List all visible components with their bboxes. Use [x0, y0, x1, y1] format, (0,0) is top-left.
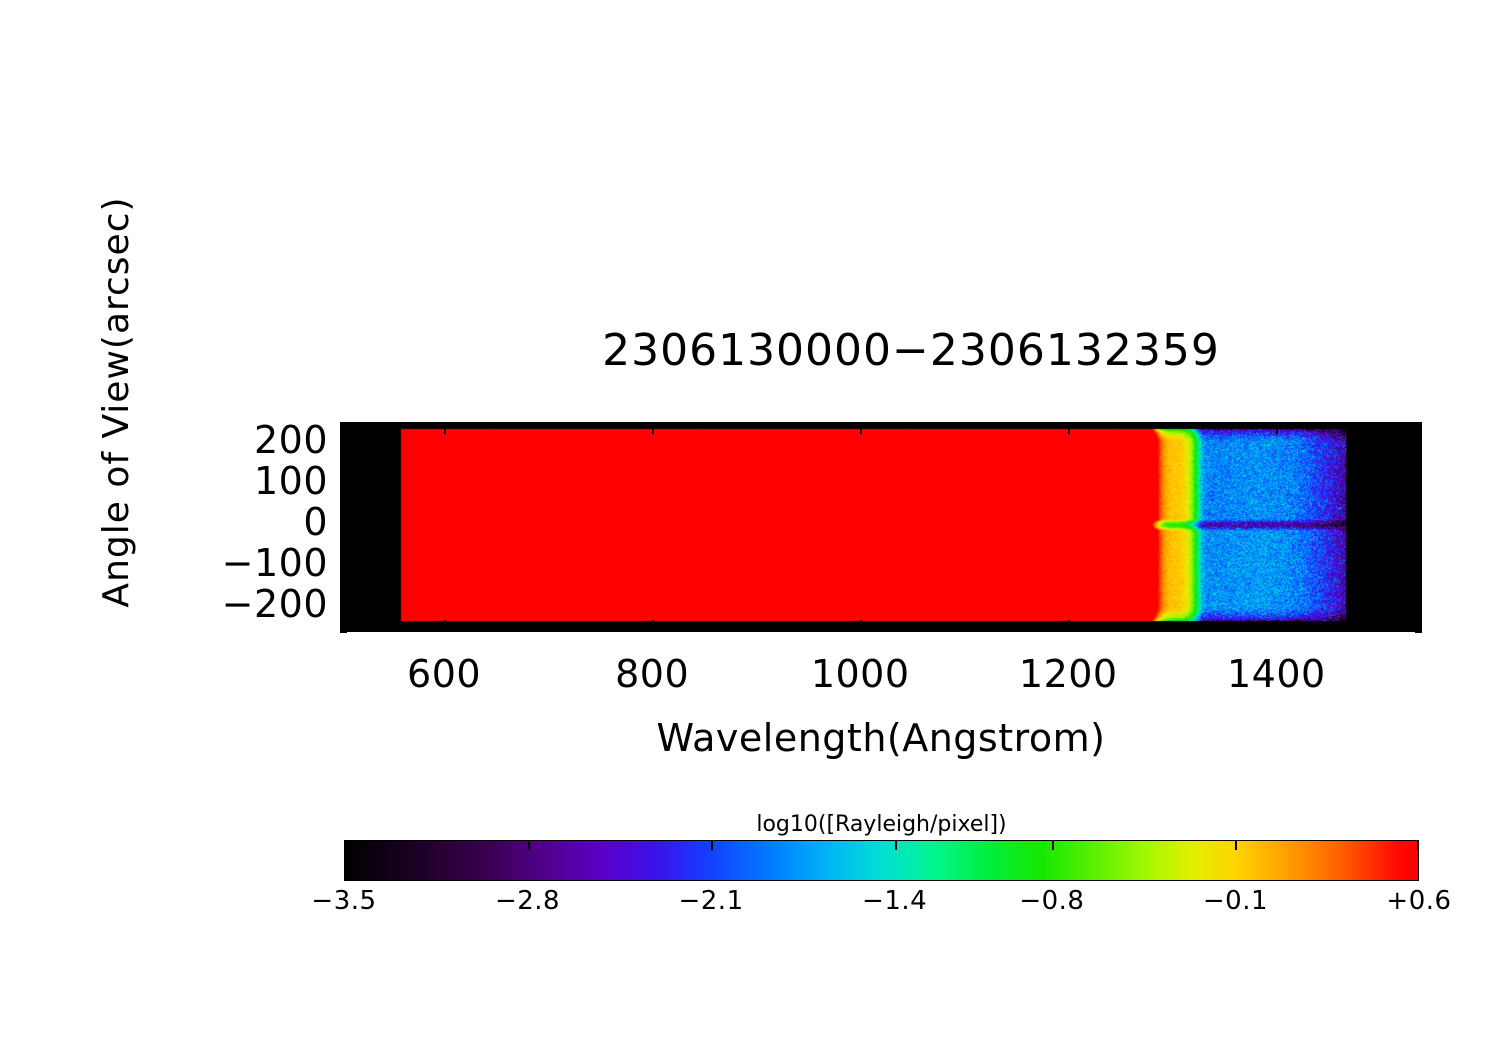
x-tick-label: 600 — [364, 652, 524, 696]
y-tick-label: 200 — [254, 418, 328, 462]
colorbar-tick-label: −0.1 — [1170, 886, 1300, 916]
x-tick-label: 1000 — [780, 652, 940, 696]
colorbar-tick-label: −1.4 — [830, 886, 960, 916]
y-tick-label: 0 — [303, 500, 328, 544]
y-axis-title: Angle of View(arcsec) — [96, 142, 137, 662]
x-tick-label: 1400 — [1196, 652, 1356, 696]
colorbar-tick — [1417, 841, 1419, 850]
y-tick-label: −100 — [222, 541, 328, 585]
x-tick-label: 800 — [572, 652, 732, 696]
colorbar — [344, 840, 1419, 881]
colorbar-tick-label: −2.1 — [646, 886, 776, 916]
colorbar-tick-label: −0.8 — [987, 886, 1117, 916]
colorbar-tick-label: −2.8 — [463, 886, 593, 916]
colorbar-title: log10([Rayleigh/pixel]) — [344, 812, 1419, 837]
y-axis-title-container: Angle of View(arcsec) — [96, 142, 144, 662]
y-tick — [1415, 632, 1422, 633]
spectrogram-image — [341, 423, 1421, 631]
colorbar-tick — [895, 841, 897, 850]
y-tick — [340, 632, 347, 633]
spectrogram-plot-frame — [340, 422, 1422, 632]
x-tick-label: 1200 — [988, 652, 1148, 696]
colorbar-tick — [711, 841, 713, 850]
colorbar-tick — [1235, 841, 1237, 850]
colorbar-tick-label: −3.5 — [279, 886, 409, 916]
x-axis-title: Wavelength(Angstrom) — [340, 716, 1422, 760]
colorbar-tick — [1052, 841, 1054, 850]
plot-title-line1: 2306130000−2306132359 — [602, 325, 1220, 376]
colorbar-tick-label: +0.6 — [1354, 886, 1484, 916]
colorbar-tick — [344, 841, 346, 850]
y-axis-tick-labels: 2001000−100−200 — [170, 422, 328, 632]
y-tick-label: 100 — [254, 459, 328, 503]
figure-canvas: 2306130000−2306132359 exp time 0504(min)… — [0, 0, 1497, 1058]
y-tick-label: −200 — [222, 582, 328, 626]
colorbar-tick — [528, 841, 530, 850]
